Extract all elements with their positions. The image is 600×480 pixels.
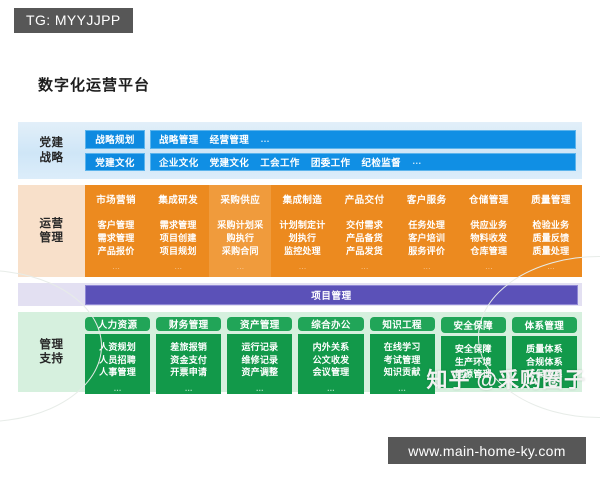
operations-item[interactable]: 客户管理 (98, 219, 135, 232)
operations-column-market[interactable]: 市场营销 客户管理 需求管理 产品报价 … (85, 185, 147, 277)
operations-column-items: 计划制定计 划执行 监控处理 (279, 219, 325, 257)
support-item[interactable]: 环保体系 (526, 368, 563, 381)
operations-column-head: 仓储管理 (469, 192, 509, 206)
support-item[interactable]: 人事管理 (99, 366, 136, 379)
layer-strategy-label-line2: 战略 (18, 151, 85, 165)
support-columns: 人力资源 人资规划 人员招聘 人事管理 … 财务管理 差旅报销 资金支付 开票申… (85, 312, 582, 392)
support-column-head[interactable]: 资产管理 (227, 317, 292, 331)
strategy-row-values: 企业文化 党建文化 工会工作 团委工作 纪检监督 … (150, 153, 576, 172)
architecture-diagram: 党建 战略 战略规划 战略管理 经营管理 … 党建文化 企业文化 党建文化 工会… (18, 122, 582, 387)
strategy-item[interactable]: 团委工作 (311, 155, 351, 169)
support-item[interactable]: 知识贡献 (384, 366, 421, 379)
layer-project: 项目管理 (18, 283, 582, 306)
strategy-item[interactable]: 经营管理 (210, 132, 250, 146)
support-item[interactable]: 合规体系 (526, 356, 563, 369)
operations-item[interactable]: 检验业务 (533, 219, 570, 232)
support-column-head[interactable]: 财务管理 (156, 317, 221, 331)
support-item[interactable]: 维修记录 (241, 354, 278, 367)
operations-column-items: 交付需求 产品备货 产品发货 (346, 219, 383, 257)
support-item[interactable]: 公文收发 (313, 354, 350, 367)
support-column-items: 安全保障 生产环境 能源管理 (441, 336, 506, 388)
layer-strategy: 党建 战略 战略规划 战略管理 经营管理 … 党建文化 企业文化 党建文化 工会… (18, 122, 582, 179)
layer-support-label-line2: 支持 (18, 352, 85, 366)
operations-column-items: 需求管理 项目创建 项目规划 (160, 219, 197, 257)
support-column-head[interactable]: 人力资源 (85, 317, 150, 331)
layer-support-label-line1: 管理 (18, 338, 85, 352)
support-column-items: 内外关系 公文收发 会议管理 … (298, 334, 363, 394)
support-more-ellipsis: … (256, 383, 264, 394)
operations-column-manufacturing[interactable]: 集成制造 计划制定计 划执行 监控处理 … (271, 185, 333, 277)
strategy-item[interactable]: 党建文化 (210, 155, 250, 169)
strategy-row-key[interactable]: 战略规划 (85, 130, 145, 149)
operations-column-head: 产品交付 (345, 192, 385, 206)
operations-item[interactable]: 物料收发 (470, 232, 507, 245)
support-column-head[interactable]: 安全保障 (441, 317, 506, 333)
support-column-knowledge[interactable]: 知识工程 在线学习 考试管理 知识贡献 … (370, 317, 435, 388)
operations-column-head: 客户服务 (407, 192, 447, 206)
support-more-ellipsis: … (398, 383, 406, 394)
support-column-safety[interactable]: 安全保障 安全保障 生产环境 能源管理 (441, 317, 506, 388)
operations-more-ellipsis: … (361, 262, 369, 271)
operations-item[interactable]: 供应业务 (470, 219, 507, 232)
operations-column-customer-service[interactable]: 客户服务 任务处理 客户培训 服务评价 … (396, 185, 458, 277)
operations-column-items: 供应业务 物料收发 仓库管理 (470, 219, 507, 257)
layer-operations-label-line1: 运营 (18, 217, 85, 231)
support-column-items: 人资规划 人员招聘 人事管理 … (85, 334, 150, 394)
operations-column-rnd[interactable]: 集成研发 需求管理 项目创建 项目规划 … (147, 185, 209, 277)
strategy-item[interactable]: 纪检监督 (361, 155, 401, 169)
operations-item[interactable]: 产品备货 (346, 232, 383, 245)
support-item[interactable]: 运行记录 (241, 341, 278, 354)
layer-strategy-label-line1: 党建 (18, 136, 85, 150)
strategy-item[interactable]: 企业文化 (159, 155, 199, 169)
operations-column-items: 任务处理 客户培训 服务评价 (408, 219, 445, 257)
project-management-bar[interactable]: 项目管理 (85, 285, 578, 305)
support-item[interactable]: 资金支付 (170, 354, 207, 367)
operations-column-procurement[interactable]: 采购供应 采购计划采 购执行 采购合同 … (209, 185, 271, 277)
support-item[interactable]: 能源管理 (455, 368, 492, 381)
operations-item[interactable]: 计划制定计 (279, 219, 325, 232)
support-item[interactable]: 差旅报销 (170, 341, 207, 354)
operations-column-items: 客户管理 需求管理 产品报价 (98, 219, 135, 257)
operations-more-ellipsis: … (547, 262, 555, 271)
support-column-office[interactable]: 综合办公 内外关系 公文收发 会议管理 … (298, 317, 363, 388)
operations-item[interactable]: 需求管理 (160, 219, 197, 232)
operations-item[interactable]: 任务处理 (408, 219, 445, 232)
operations-column-head: 市场营销 (96, 192, 136, 206)
support-more-ellipsis: … (327, 383, 335, 394)
operations-more-ellipsis: … (236, 262, 244, 271)
url-watermark-badge: www.main-home-ky.com (388, 437, 586, 464)
strategy-item[interactable]: 工会工作 (260, 155, 300, 169)
operations-item[interactable]: 项目规划 (160, 245, 197, 258)
support-item[interactable]: 质量体系 (526, 343, 563, 356)
support-more-ellipsis: … (185, 383, 193, 394)
support-item[interactable]: 内外关系 (313, 341, 350, 354)
operations-item[interactable]: 项目创建 (160, 232, 197, 245)
operations-columns: 市场营销 客户管理 需求管理 产品报价 … 集成研发 需求管理 项目创建 项目规… (85, 185, 582, 277)
operations-item[interactable]: 质量处理 (533, 245, 570, 258)
operations-item[interactable]: 质量反馈 (533, 232, 570, 245)
support-column-head[interactable]: 体系管理 (512, 317, 577, 333)
support-item[interactable]: 人员招聘 (99, 354, 136, 367)
operations-item[interactable]: 采购合同 (217, 245, 263, 258)
strategy-item[interactable]: 战略管理 (159, 132, 199, 146)
strategy-row-values: 战略管理 经营管理 … (150, 130, 576, 149)
operations-more-ellipsis: … (485, 262, 493, 271)
support-item[interactable]: 开票申请 (170, 366, 207, 379)
tg-watermark-badge: TG: MYYJJPP (14, 8, 133, 33)
support-column-items: 在线学习 考试管理 知识贡献 … (370, 334, 435, 394)
support-item[interactable]: 安全保障 (455, 343, 492, 356)
layer-support-label: 管理 支持 (18, 338, 85, 366)
support-item[interactable]: 资产调整 (241, 366, 278, 379)
support-item[interactable]: 在线学习 (384, 341, 421, 354)
support-column-items: 运行记录 维修记录 资产调整 … (227, 334, 292, 394)
operations-item[interactable]: 服务评价 (408, 245, 445, 258)
strategy-row-key[interactable]: 党建文化 (85, 153, 145, 172)
support-column-system[interactable]: 体系管理 质量体系 合规体系 环保体系 (512, 317, 577, 388)
support-item[interactable]: 考试管理 (384, 354, 421, 367)
operations-column-head: 集成研发 (158, 192, 198, 206)
page-title: 数字化运营平台 (38, 74, 150, 95)
operations-item[interactable]: 需求管理 (98, 232, 135, 245)
operations-column-quality[interactable]: 质量管理 检验业务 质量反馈 质量处理 … (520, 185, 582, 277)
layer-operations-label-line2: 管理 (18, 231, 85, 245)
layer-operations: 运营 管理 市场营销 客户管理 需求管理 产品报价 … 集成研发 需求管理 项目… (18, 185, 582, 277)
operations-more-ellipsis: … (112, 262, 120, 271)
support-column-head[interactable]: 知识工程 (370, 317, 435, 331)
strategy-row: 党建文化 企业文化 党建文化 工会工作 团委工作 纪检监督 … (85, 153, 576, 172)
strategy-more-ellipsis: … (412, 156, 422, 167)
operations-column-head: 采购供应 (221, 192, 261, 206)
strategy-row: 战略规划 战略管理 经营管理 … (85, 130, 576, 149)
support-item[interactable]: 人资规划 (99, 341, 136, 354)
operations-column-warehouse[interactable]: 仓储管理 供应业务 物料收发 仓库管理 … (458, 185, 520, 277)
operations-column-head: 质量管理 (531, 192, 571, 206)
support-column-finance[interactable]: 财务管理 差旅报销 资金支付 开票申请 … (156, 317, 221, 388)
operations-item[interactable]: 监控处理 (279, 245, 325, 258)
operations-column-delivery[interactable]: 产品交付 交付需求 产品备货 产品发货 … (334, 185, 396, 277)
support-column-items: 差旅报销 资金支付 开票申请 … (156, 334, 221, 394)
strategy-more-ellipsis: … (260, 134, 270, 145)
operations-item[interactable]: 采购计划采 (217, 219, 263, 232)
layer-operations-label: 运营 管理 (18, 217, 85, 245)
operations-item[interactable]: 客户培训 (408, 232, 445, 245)
operations-item[interactable]: 仓库管理 (470, 245, 507, 258)
strategy-rows: 战略规划 战略管理 经营管理 … 党建文化 企业文化 党建文化 工会工作 团委工… (85, 127, 576, 174)
support-more-ellipsis: … (113, 383, 121, 394)
layer-support: 管理 支持 人力资源 人资规划 人员招聘 人事管理 … 财务管理 差旅报销 资金… (18, 312, 582, 392)
operations-more-ellipsis: … (174, 262, 182, 271)
operations-column-head: 集成制造 (283, 192, 323, 206)
operations-column-items: 采购计划采 购执行 采购合同 (217, 219, 263, 257)
support-column-asset[interactable]: 资产管理 运行记录 维修记录 资产调整 … (227, 317, 292, 388)
support-item[interactable]: 会议管理 (313, 366, 350, 379)
operations-more-ellipsis: … (423, 262, 431, 271)
operations-column-items: 检验业务 质量反馈 质量处理 (533, 219, 570, 257)
layer-strategy-label: 党建 战略 (18, 136, 85, 164)
support-column-head[interactable]: 综合办公 (298, 317, 363, 331)
operations-item[interactable]: 产品报价 (98, 245, 135, 258)
operations-item[interactable]: 划执行 (279, 232, 325, 245)
operations-item[interactable]: 产品发货 (346, 245, 383, 258)
operations-item[interactable]: 交付需求 (346, 219, 383, 232)
operations-item[interactable]: 购执行 (217, 232, 263, 245)
support-item[interactable]: 生产环境 (455, 356, 492, 369)
support-column-items: 质量体系 合规体系 环保体系 (512, 336, 577, 388)
support-column-hr[interactable]: 人力资源 人资规划 人员招聘 人事管理 … (85, 317, 150, 388)
operations-more-ellipsis: … (298, 262, 306, 271)
